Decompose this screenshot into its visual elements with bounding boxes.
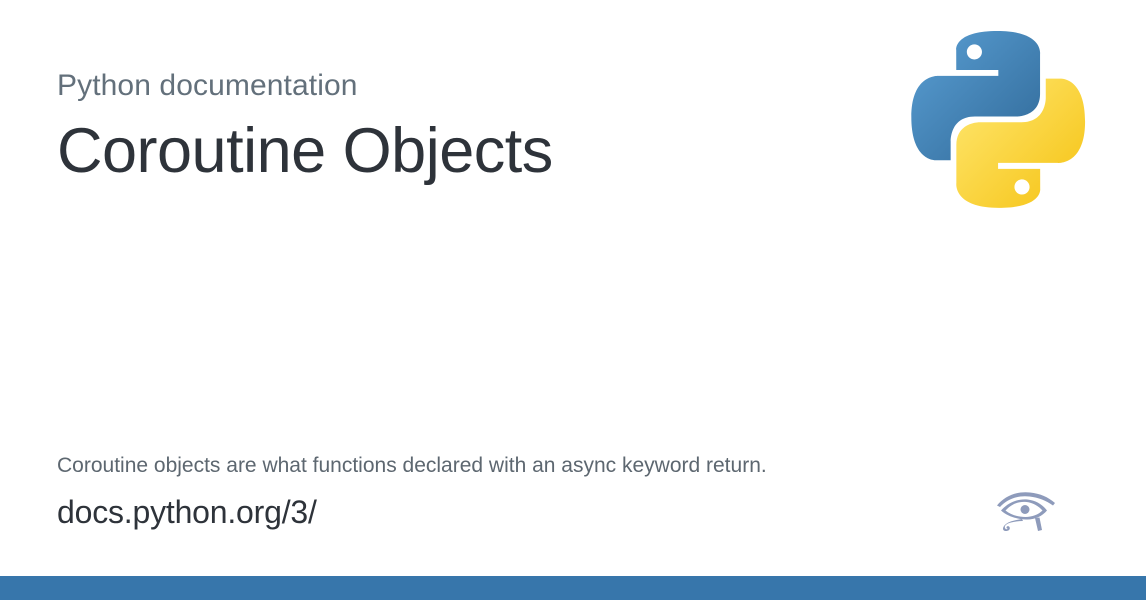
footer-block: Coroutine objects are what functions dec… [57,452,917,532]
page-description: Coroutine objects are what functions dec… [57,452,917,480]
site-url[interactable]: docs.python.org/3/ [57,492,917,532]
header-block: Python documentation Coroutine Objects [57,68,877,230]
python-logo [911,31,1086,209]
page-title: Coroutine Objects [57,114,877,188]
og-preview-card: Python documentation Coroutine Objects C… [0,0,1146,600]
bottom-accent-bar [0,576,1146,600]
eyebrow-label: Python documentation [57,68,877,104]
eye-of-horus-icon [992,489,1060,531]
